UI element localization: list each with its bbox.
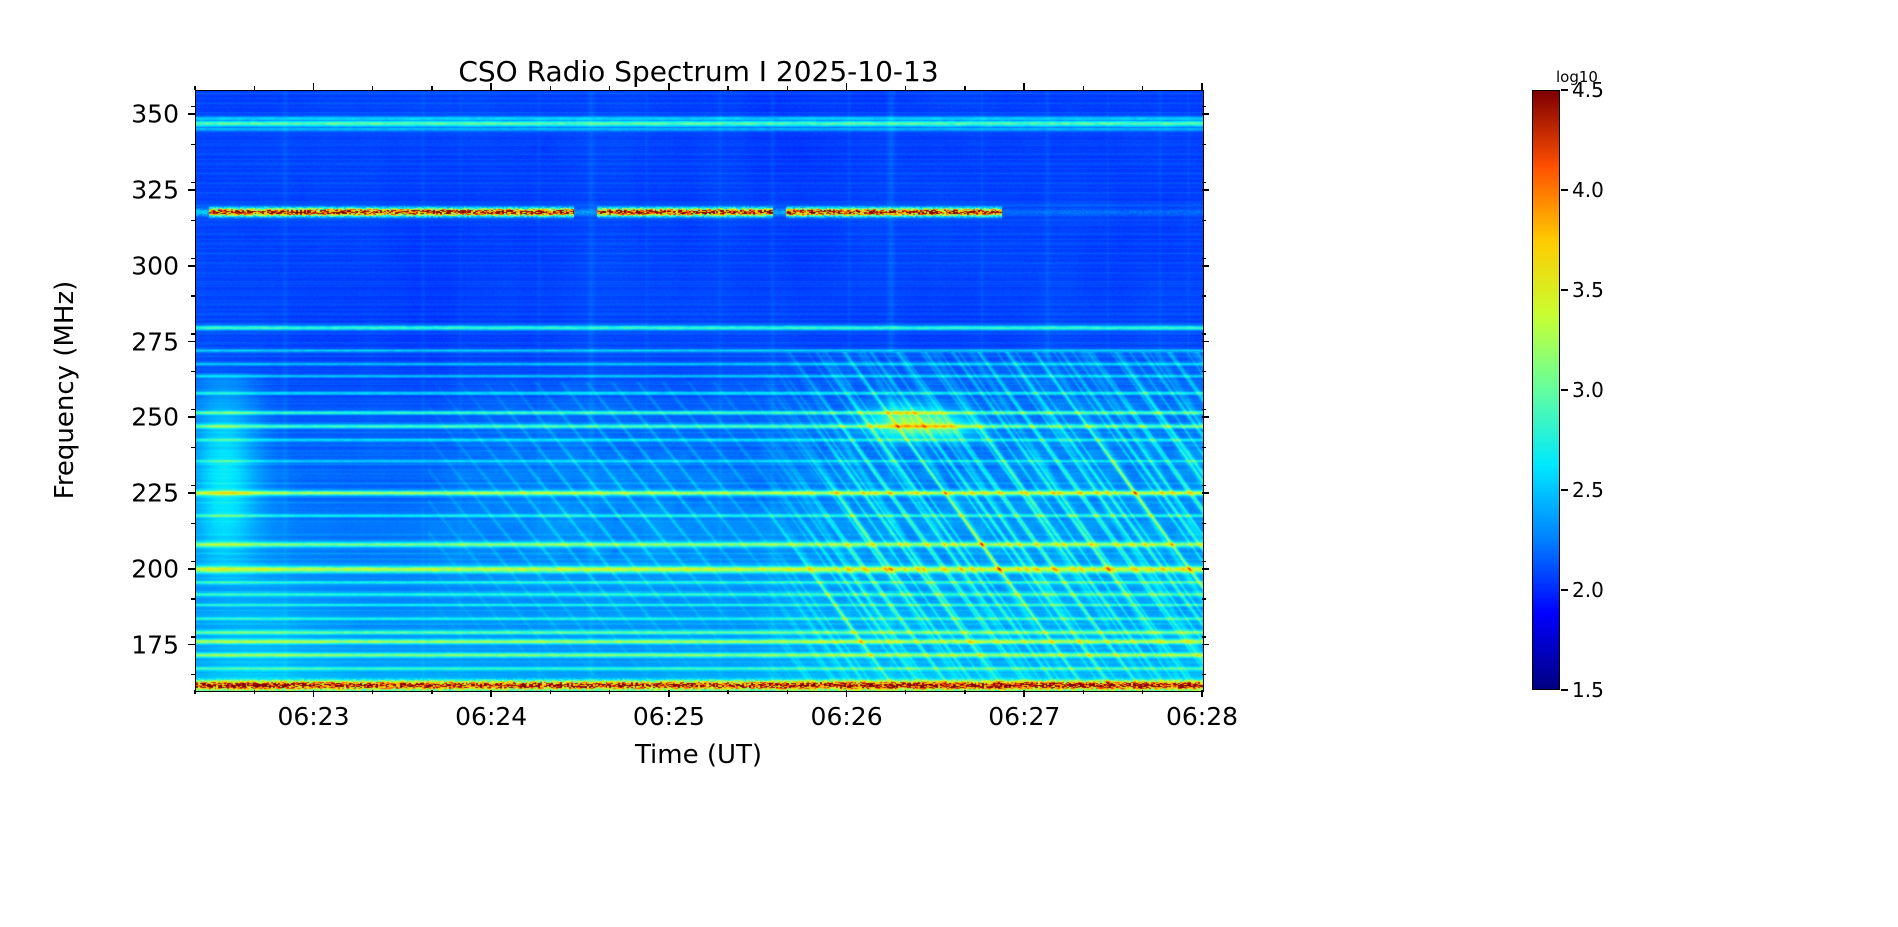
y-tick-mark: [188, 492, 195, 494]
y-minor-tick-right: [1202, 182, 1206, 183]
y-tick-mark: [188, 568, 195, 570]
x-minor-tick-top: [609, 86, 610, 90]
colorbar-tick-mark: [1561, 389, 1568, 391]
y-minor-tick-left: [191, 106, 195, 107]
y-minor-tick-right: [1202, 561, 1206, 562]
y-minor-tick-left: [191, 144, 195, 145]
y-minor-tick-right: [1202, 674, 1206, 675]
colorbar[interactable]: [1532, 90, 1560, 690]
x-minor-tick-bottom: [254, 690, 255, 694]
x-tick-label: 06:27: [988, 702, 1060, 731]
x-minor-tick-top: [372, 86, 373, 90]
y-minor-tick-right: [1202, 636, 1206, 637]
y-tick-mark-right: [1202, 492, 1209, 494]
y-tick-label: 200: [115, 554, 179, 583]
y-minor-tick-left: [191, 258, 195, 259]
x-tick-mark-bottom: [313, 690, 315, 697]
colorbar-tick-mark: [1561, 589, 1568, 591]
y-minor-tick-left: [191, 485, 195, 486]
colorbar-gradient: [1532, 90, 1560, 690]
y-minor-tick-right: [1202, 220, 1206, 221]
x-tick-mark-bottom: [846, 690, 848, 697]
y-minor-tick-left: [191, 598, 195, 599]
y-minor-tick-right: [1202, 523, 1206, 524]
x-minor-tick-top: [194, 86, 195, 90]
x-minor-tick-top: [1083, 86, 1084, 90]
y-tick-mark: [188, 265, 195, 267]
x-minor-tick-bottom: [431, 690, 432, 694]
y-minor-tick-right: [1202, 485, 1206, 486]
y-minor-tick-left: [191, 674, 195, 675]
y-tick-label: 300: [115, 251, 179, 280]
x-tick-mark-top: [313, 83, 315, 90]
x-minor-tick-top: [1142, 86, 1143, 90]
y-minor-tick-right: [1202, 409, 1206, 410]
spectrogram-axes[interactable]: [195, 90, 1204, 692]
figure-canvas: CSO Radio Spectrum I 2025-10-13 Frequenc…: [0, 0, 1898, 927]
x-minor-tick-top: [787, 86, 788, 90]
y-minor-tick-right: [1202, 258, 1206, 259]
x-minor-tick-bottom: [787, 690, 788, 694]
x-minor-tick-bottom: [609, 690, 610, 694]
y-minor-tick-left: [191, 371, 195, 372]
y-tick-mark-right: [1202, 113, 1209, 115]
y-tick-mark-right: [1202, 568, 1209, 570]
x-minor-tick-bottom: [964, 690, 965, 694]
y-tick-mark: [188, 189, 195, 191]
x-minor-tick-top: [254, 86, 255, 90]
colorbar-tick-mark: [1561, 89, 1568, 91]
y-tick-mark-right: [1202, 265, 1209, 267]
x-minor-tick-bottom: [1083, 690, 1084, 694]
x-minor-tick-top: [905, 86, 906, 90]
y-minor-tick-right: [1202, 106, 1206, 107]
y-tick-mark: [188, 644, 195, 646]
y-minor-tick-left: [191, 561, 195, 562]
colorbar-tick-label: 3.5: [1572, 278, 1604, 302]
x-tick-mark-top: [846, 83, 848, 90]
colorbar-tick-mark: [1561, 689, 1568, 691]
colorbar-tick-mark: [1561, 189, 1568, 191]
y-tick-label: 350: [115, 100, 179, 129]
x-tick-label: 06:24: [455, 702, 527, 731]
y-minor-tick-right: [1202, 598, 1206, 599]
colorbar-tick-mark: [1561, 289, 1568, 291]
x-minor-tick-top: [550, 86, 551, 90]
y-minor-tick-right: [1202, 447, 1206, 448]
y-tick-mark-right: [1202, 416, 1209, 418]
colorbar-tick-label: 3.0: [1572, 378, 1604, 402]
y-minor-tick-left: [191, 409, 195, 410]
y-tick-label: 275: [115, 327, 179, 356]
y-minor-tick-left: [191, 182, 195, 183]
y-minor-tick-right: [1202, 333, 1206, 334]
x-tick-mark-bottom: [490, 690, 492, 697]
y-minor-tick-left: [191, 636, 195, 637]
x-tick-mark-top: [1201, 83, 1203, 90]
x-tick-mark-top: [490, 83, 492, 90]
x-tick-mark-top: [668, 83, 670, 90]
y-minor-tick-left: [191, 447, 195, 448]
x-minor-tick-bottom: [727, 690, 728, 694]
y-minor-tick-left: [191, 220, 195, 221]
x-minor-tick-top: [431, 86, 432, 90]
x-tick-label: 06:28: [1166, 702, 1238, 731]
colorbar-tick-label: 1.5: [1572, 678, 1604, 702]
colorbar-tick-label: 4.0: [1572, 178, 1604, 202]
colorbar-tick-label: 4.5: [1572, 78, 1604, 102]
spectrogram-image: [196, 91, 1203, 691]
x-minor-tick-bottom: [905, 690, 906, 694]
y-tick-mark: [188, 416, 195, 418]
x-tick-mark-bottom: [1201, 690, 1203, 697]
colorbar-tick-mark: [1561, 489, 1568, 491]
y-tick-mark-right: [1202, 189, 1209, 191]
x-minor-tick-bottom: [1142, 690, 1143, 694]
x-tick-mark-bottom: [668, 690, 670, 697]
x-tick-label: 06:23: [277, 702, 349, 731]
y-minor-tick-right: [1202, 295, 1206, 296]
x-tick-mark-bottom: [1023, 690, 1025, 697]
colorbar-tick-label: 2.5: [1572, 478, 1604, 502]
y-minor-tick-right: [1202, 371, 1206, 372]
y-tick-label: 225: [115, 479, 179, 508]
y-tick-label: 325: [115, 176, 179, 205]
y-tick-mark-right: [1202, 644, 1209, 646]
colorbar-tick-label: 2.0: [1572, 578, 1604, 602]
y-tick-mark: [188, 113, 195, 115]
y-minor-tick-right: [1202, 144, 1206, 145]
x-minor-tick-bottom: [550, 690, 551, 694]
y-tick-mark-right: [1202, 341, 1209, 343]
x-tick-mark-top: [1023, 83, 1025, 90]
x-minor-tick-bottom: [194, 690, 195, 694]
x-minor-tick-bottom: [372, 690, 373, 694]
x-minor-tick-top: [964, 86, 965, 90]
y-minor-tick-left: [191, 523, 195, 524]
y-minor-tick-left: [191, 295, 195, 296]
y-axis-label: Frequency (MHz): [50, 281, 80, 500]
y-tick-label: 250: [115, 403, 179, 432]
y-tick-mark: [188, 341, 195, 343]
y-minor-tick-left: [191, 333, 195, 334]
x-minor-tick-top: [727, 86, 728, 90]
x-axis-label: Time (UT): [195, 740, 1202, 770]
x-tick-label: 06:26: [811, 702, 883, 731]
y-tick-label: 175: [115, 630, 179, 659]
x-tick-label: 06:25: [633, 702, 705, 731]
chart-title: CSO Radio Spectrum I 2025-10-13: [195, 55, 1202, 88]
